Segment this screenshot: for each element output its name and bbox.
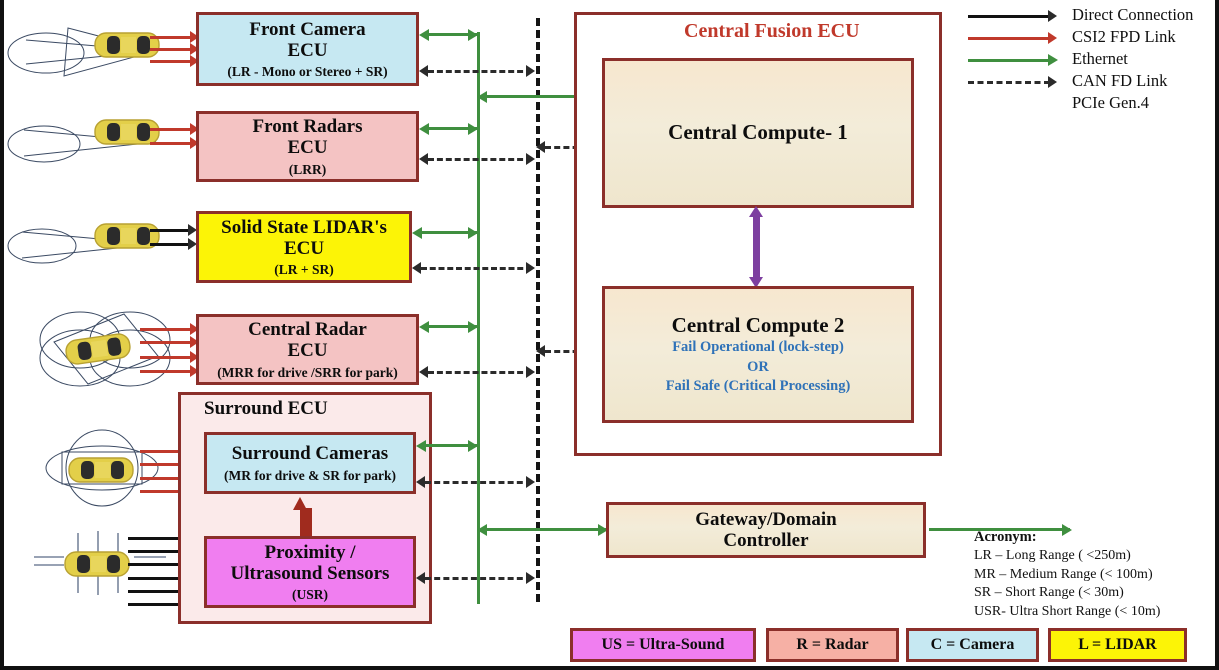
legend-item-can-fd-link: CAN FD Link (968, 72, 1216, 94)
can-fd-link (421, 267, 532, 270)
acronym-heading: Acronym: (974, 528, 1160, 547)
arrowhead-icon (416, 476, 425, 488)
surround-cameras-box[interactable]: Surround Cameras (MR for drive & SR for … (204, 432, 416, 494)
csi2-link (140, 328, 196, 331)
arrowhead-icon (468, 440, 478, 452)
central-radar-ecu-box[interactable]: Central Radar ECU (MRR for drive /SRR fo… (196, 314, 419, 385)
central-radar-ecu-sub: (MRR for drive /SRR for park) (217, 365, 398, 380)
front-radars-ecu-sub: (LRR) (289, 162, 327, 177)
arrowhead-icon (749, 206, 763, 217)
solid-state-lidars-ecu-line1: Solid State LIDAR's (221, 217, 387, 238)
legend-line-csi2 (968, 37, 1052, 40)
can-fd-link (428, 158, 532, 161)
arrowhead-icon (419, 65, 428, 77)
arrowhead-icon (419, 321, 429, 333)
front-radars-ecu-line2: ECU (287, 137, 327, 158)
vehicle-icon (92, 112, 162, 152)
arrowhead-icon (416, 572, 425, 584)
legend-item-direct-connection: Direct Connection (968, 6, 1216, 28)
key-box-lidar[interactable]: L = LIDAR (1048, 628, 1187, 662)
gateway-domain-controller-box[interactable]: Gateway/Domain Controller (606, 502, 926, 558)
arrowhead-icon (468, 227, 478, 239)
csi2-link (140, 356, 196, 359)
arrowhead-icon (1048, 54, 1058, 66)
legend-label-csi2-fpd-link: CSI2 FPD Link (1072, 27, 1176, 47)
frame-border-bottom (0, 666, 1219, 670)
central-compute-2-line3: Fail Safe (Critical Processing) (666, 378, 851, 395)
arrowhead-icon (293, 497, 307, 510)
legend-label-ethernet: Ethernet (1072, 49, 1128, 69)
pcie-link (753, 216, 760, 278)
central-radar-ecu-line2: ECU (287, 340, 327, 361)
key-box-ultra-sound[interactable]: US = Ultra-Sound (570, 628, 756, 662)
vehicle-icon (62, 328, 134, 370)
front-camera-ecu-line2: ECU (287, 40, 327, 61)
front-radars-ecu-box[interactable]: Front Radars ECU (LRR) (196, 111, 419, 182)
csi2-link (140, 341, 196, 344)
front-radars-ecu-line1: Front Radars (253, 116, 363, 137)
vehicle-icon (62, 544, 134, 584)
vehicle-icon (66, 450, 138, 490)
solid-state-lidars-ecu-box[interactable]: Solid State LIDAR's ECU (LR + SR) (196, 211, 412, 283)
arrowhead-icon (526, 572, 535, 584)
surround-ecu-title: Surround ECU (204, 398, 328, 420)
proximity-ultrasound-box[interactable]: Proximity / Ultrasound Sensors (USR) (204, 536, 416, 608)
proximity-sub: (USR) (292, 587, 328, 602)
legend-line-ethernet (968, 59, 1052, 62)
arrowhead-icon (419, 29, 429, 41)
arrowhead-icon (416, 440, 426, 452)
arrowhead-icon (468, 123, 478, 135)
vehicle-icon (92, 216, 162, 256)
key-box-camera[interactable]: C = Camera (906, 628, 1039, 662)
central-compute-2-line1: Fail Operational (lock-step) (672, 339, 844, 356)
legend-label-can-fd-link: CAN FD Link (1072, 71, 1167, 91)
key-label-camera: C = Camera (931, 636, 1015, 654)
key-label-radar: R = Radar (796, 636, 868, 654)
proximity-line2: Ultrasound Sensors (231, 563, 390, 584)
acronym-line-mr: MR – Medium Range (< 100m) (974, 566, 1160, 584)
acronym-line-lr: LR – Long Range ( <250m) (974, 547, 1160, 565)
legend-item-ethernet: Ethernet (968, 50, 1216, 72)
key-box-radar[interactable]: R = Radar (766, 628, 899, 662)
arrowhead-icon (412, 262, 421, 274)
legend-item-pcie-gen4: PCIe Gen.4 (968, 94, 1216, 116)
acronym-block: Acronym: LR – Long Range ( <250m) MR – M… (974, 528, 1160, 621)
surround-cameras-sub: (MR for drive & SR for park) (224, 468, 396, 483)
can-fd-link (428, 371, 532, 374)
arrowhead-icon (526, 153, 535, 165)
frame-border-left (0, 0, 4, 670)
gateway-line1: Gateway/Domain (695, 509, 836, 530)
arrowhead-icon (477, 524, 487, 536)
legend-label-direct-connection: Direct Connection (1072, 5, 1193, 25)
arrowhead-icon (412, 227, 422, 239)
solid-state-lidars-ecu-sub: (LR + SR) (274, 262, 333, 277)
arrowhead-icon (526, 366, 535, 378)
front-camera-ecu-box[interactable]: Front Camera ECU (LR - Mono or Stereo + … (196, 12, 419, 86)
csi2-link (140, 370, 196, 373)
diagram-canvas: Front Camera ECU (LR - Mono or Stereo + … (0, 0, 1219, 670)
can-fd-link (425, 481, 532, 484)
central-compute-2-line2: OR (747, 359, 769, 376)
central-radar-ecu-line1: Central Radar (248, 319, 367, 340)
can-fd-link (425, 577, 532, 580)
arrowhead-icon (477, 91, 487, 103)
vehicle-icon (92, 25, 162, 65)
legend-item-csi2-fpd-link: CSI2 FPD Link (968, 28, 1216, 50)
arrowhead-icon (1048, 10, 1057, 22)
arrowhead-icon (419, 123, 429, 135)
ethernet-trunk-gateway (482, 528, 606, 531)
legend-line-direct (968, 15, 1052, 18)
can-fd-link (428, 70, 532, 73)
acronym-line-usr: USR- Ultra Short Range (< 10m) (974, 603, 1160, 621)
central-compute-1-label: Central Compute- 1 (668, 121, 848, 145)
key-label-ultra-sound: US = Ultra-Sound (602, 636, 725, 654)
arrowhead-icon (468, 321, 478, 333)
arrowhead-icon (526, 65, 535, 77)
arrowhead-icon (1048, 32, 1057, 44)
central-fusion-ecu-title: Central Fusion ECU (684, 20, 860, 43)
ethernet-bus-vertical (477, 32, 480, 604)
solid-state-lidars-ecu-line2: ECU (284, 238, 324, 259)
can-fd-bus-vertical (536, 18, 540, 602)
front-camera-ecu-line1: Front Camera (249, 19, 365, 40)
arrowhead-icon (419, 153, 428, 165)
acronym-line-sr: SR – Short Range (< 30m) (974, 584, 1160, 602)
legend-label-pcie-gen4: PCIe Gen.4 (1072, 93, 1149, 113)
proximity-line1: Proximity / (265, 542, 356, 563)
arrowhead-icon (419, 366, 428, 378)
front-camera-ecu-sub: (LR - Mono or Stereo + SR) (227, 64, 387, 79)
central-compute-2-box[interactable]: Central Compute 2 Fail Operational (lock… (602, 286, 914, 423)
legend-line-can-fd (968, 81, 1050, 84)
arrowhead-icon (526, 262, 535, 274)
arrowhead-icon (526, 476, 535, 488)
internal-data-link (300, 508, 312, 538)
arrowhead-icon (536, 345, 545, 357)
key-label-lidar: L = LIDAR (1078, 636, 1156, 654)
gateway-line2: Controller (723, 530, 808, 551)
legend: Direct Connection CSI2 FPD Link Ethernet… (968, 6, 1216, 116)
central-compute-1-box[interactable]: Central Compute- 1 (602, 58, 914, 208)
arrowhead-icon (468, 29, 478, 41)
arrowhead-icon (536, 141, 545, 153)
arrowhead-icon (1048, 76, 1057, 88)
surround-cameras-line1: Surround Cameras (232, 443, 388, 464)
central-compute-2-label: Central Compute 2 (672, 314, 845, 338)
